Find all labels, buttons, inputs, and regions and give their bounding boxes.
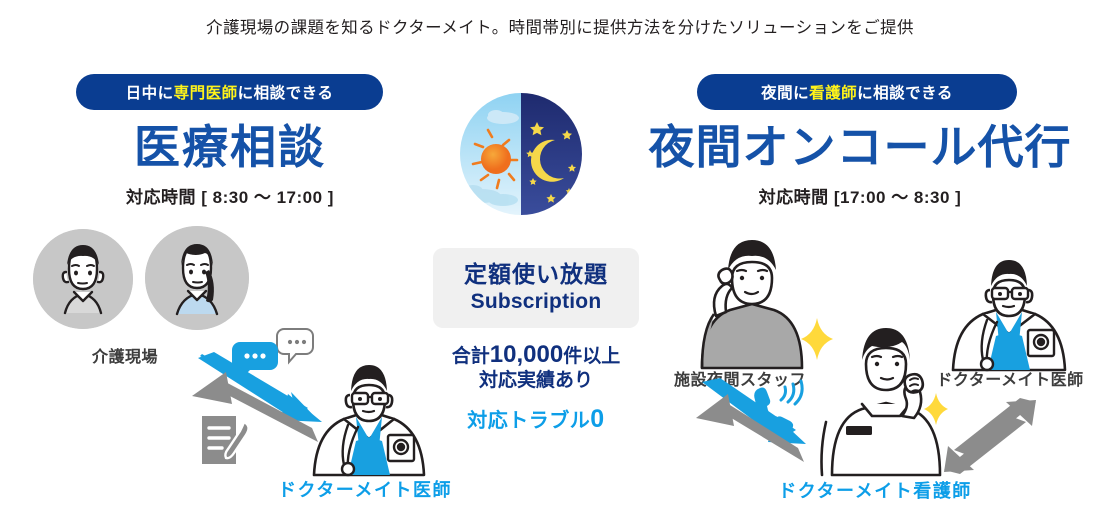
stat-total-prefix: 合計 (452, 346, 490, 367)
label-care-site: 介護現場 (35, 343, 215, 367)
avatar-care-worker-male (33, 229, 133, 329)
arrow-gray-icon (940, 396, 1040, 476)
label-doctormate-doctor-left: ドクターメイト医師 (255, 476, 475, 502)
arrow-gray-icon (694, 392, 806, 466)
label-doctormate-nurse: ドクターメイト看護師 (740, 477, 1010, 503)
avatar-care-worker-female (145, 226, 249, 330)
document-pen-icon (200, 414, 254, 470)
stat-trouble-value: 0 (590, 405, 604, 433)
badge-right-suffix: に相談できる (857, 81, 953, 103)
hours-night-oncall: 対応時間 [17:00 〜 8:30 ] (640, 183, 1080, 208)
badge-daytime-consult: 日中に専門医師に相談できる (76, 74, 383, 110)
stat-total-number: 10,000 (490, 341, 563, 368)
day-night-circle-icon (459, 92, 583, 216)
stat-total-suffix: 件以上 (563, 346, 620, 367)
page-headline: 介護現場の課題を知るドクターメイト。時間帯別に提供方法を分けたソリューションをご… (0, 14, 1120, 38)
hours-medical-consultation: 対応時間 [ 8:30 〜 17:00 ] (0, 183, 460, 208)
badge-night-consult: 夜間に看護師に相談できる (697, 74, 1017, 110)
badge-left-prefix: 日中に (126, 81, 174, 103)
stat-trouble-count: 対応トラブル0 (433, 404, 639, 434)
badge-left-highlight: 専門医師 (174, 81, 238, 103)
title-night-oncall: 夜間オンコール代行 (640, 124, 1080, 170)
subscription-title-en: Subscription (471, 289, 602, 314)
sparkle-icon (800, 318, 834, 360)
badge-right-highlight: 看護師 (809, 81, 857, 103)
subscription-panel: 定額使い放題 Subscription (433, 248, 639, 328)
badge-left-suffix: に相談できる (238, 81, 334, 103)
stat-trouble-label: 対応トラブル (467, 410, 590, 432)
badge-right-prefix: 夜間に (761, 81, 809, 103)
stat-total-caption: 対応実績あり (433, 365, 639, 392)
title-medical-consultation: 医療相談 (0, 124, 460, 170)
subscription-title-jp: 定額使い放題 (464, 262, 608, 288)
infographic-root: 介護現場の課題を知るドクターメイト。時間帯別に提供方法を分けたソリューションをご… (0, 0, 1120, 521)
illustration-doctormate-doctor-left (296, 329, 442, 475)
